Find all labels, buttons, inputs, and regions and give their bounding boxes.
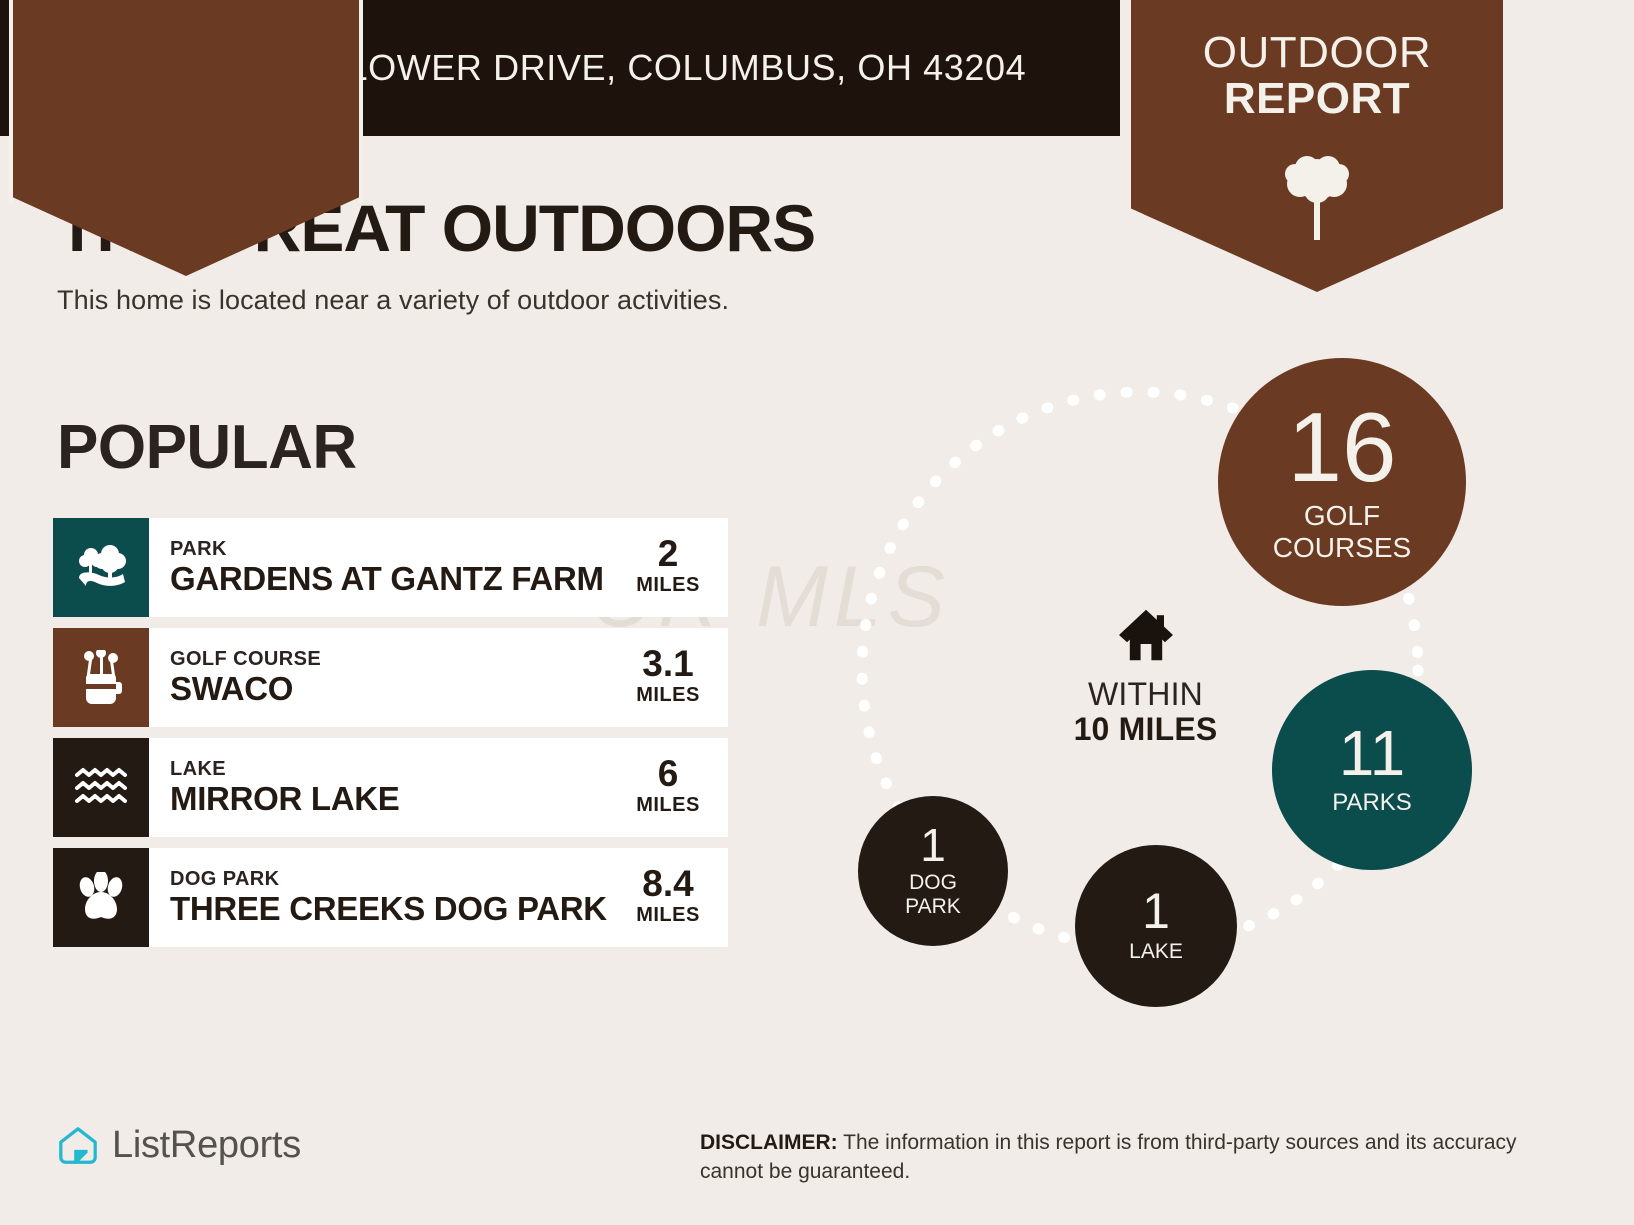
table-row[interactable]: LAKE MIRROR LAKE 6 MILES: [53, 738, 728, 837]
poi-distance-unit: MILES: [622, 572, 714, 598]
poi-name: MIRROR LAKE: [170, 781, 622, 818]
water-waves-icon: [73, 766, 129, 810]
listreports-wordmark: ListReports: [112, 1124, 301, 1167]
table-row[interactable]: PARK GARDENS AT GANTZ FARM 2 MILES: [53, 518, 728, 617]
stat-label: LAKE: [1129, 940, 1183, 964]
poi-textcol: GOLF COURSE SWACO: [170, 648, 622, 708]
poi-distance-value: 8.4: [622, 865, 714, 902]
stat-node-lake[interactable]: 1 LAKE: [1075, 845, 1237, 1007]
stat-label-line1: GOLF: [1273, 500, 1411, 531]
diagram-center: WITHIN 10 MILES: [1028, 608, 1263, 746]
table-row[interactable]: GOLF COURSE SWACO 3.1 MILES: [53, 628, 728, 727]
stat-node-parks[interactable]: 11 PARKS: [1272, 670, 1472, 870]
stat-node-dog-park[interactable]: 1 DOG PARK: [858, 796, 1008, 946]
stat-label-line2: COURSES: [1273, 532, 1411, 563]
poi-body: LAKE MIRROR LAKE 6 MILES: [149, 738, 728, 837]
poi-category: PARK: [170, 538, 622, 561]
poi-body: GOLF COURSE SWACO 3.1 MILES: [149, 628, 728, 727]
stat-count: 16: [1287, 401, 1396, 494]
poi-category: GOLF COURSE: [170, 648, 622, 671]
poi-name: GARDENS AT GANTZ FARM: [170, 561, 622, 598]
poi-distance-value: 2: [622, 535, 714, 572]
poi-body: DOG PARK THREE CREEKS DOG PARK 8.4 MILES: [149, 848, 728, 947]
stat-node-golf-courses[interactable]: 16 GOLF COURSES: [1218, 358, 1466, 606]
poi-textcol: PARK GARDENS AT GANTZ FARM: [170, 538, 622, 598]
poi-icon-tile: [53, 518, 149, 617]
badge-text-group: OUTDOOR REPORT: [1131, 30, 1503, 122]
tree-icon: [1275, 150, 1359, 242]
badge-title-line2: REPORT: [1131, 76, 1503, 122]
poi-textcol: DOG PARK THREE CREEKS DOG PARK: [170, 868, 622, 928]
stat-label-line2: PARK: [905, 895, 961, 919]
poi-distance-value: 3.1: [622, 645, 714, 682]
stat-count: 1: [920, 824, 946, 868]
listreports-logo[interactable]: ListReports: [57, 1124, 301, 1167]
poi-name: SWACO: [170, 671, 622, 708]
stat-label: DOG PARK: [905, 871, 961, 918]
disclaimer: DISCLAIMER: The information in this repo…: [700, 1128, 1520, 1187]
amenities-diagram: 16 GOLF COURSES 11 PARKS 1 DOG PARK 1 LA…: [820, 350, 1520, 1050]
listreports-house-icon: [57, 1125, 99, 1167]
page-subtitle: This home is located near a variety of o…: [57, 285, 729, 316]
stat-label-line1: DOG: [905, 871, 961, 895]
poi-icon-tile: [53, 738, 149, 837]
poi-distance: 2 MILES: [622, 535, 714, 600]
center-line2: 10 MILES: [1028, 712, 1263, 747]
poi-category: LAKE: [170, 758, 622, 781]
poi-distance-value: 6: [622, 755, 714, 792]
paw-print-icon: [76, 872, 126, 924]
poi-distance: 3.1 MILES: [622, 645, 714, 710]
poi-name: THREE CREEKS DOG PARK: [170, 891, 622, 928]
poi-textcol: LAKE MIRROR LAKE: [170, 758, 622, 818]
center-line1: WITHIN: [1028, 677, 1263, 712]
poi-distance-unit: MILES: [622, 792, 714, 818]
disclaimer-label: DISCLAIMER:: [700, 1131, 838, 1154]
park-trees-icon: [73, 542, 129, 594]
poi-category: DOG PARK: [170, 868, 622, 891]
poi-distance-unit: MILES: [622, 682, 714, 708]
table-row[interactable]: DOG PARK THREE CREEKS DOG PARK 8.4 MILES: [53, 848, 728, 947]
stat-label: PARKS: [1332, 790, 1412, 817]
stat-label: GOLF COURSES: [1273, 500, 1411, 563]
golf-bag-icon: [78, 650, 124, 706]
poi-body: PARK GARDENS AT GANTZ FARM 2 MILES: [149, 518, 728, 617]
poi-distance: 8.4 MILES: [622, 865, 714, 930]
poi-icon-tile: [53, 628, 149, 727]
section-title-popular: POPULAR: [57, 412, 357, 483]
poi-distance: 6 MILES: [622, 755, 714, 820]
popular-poi-list: PARK GARDENS AT GANTZ FARM 2 MILES: [53, 518, 728, 958]
stat-count: 1: [1142, 888, 1170, 936]
poi-distance-unit: MILES: [622, 902, 714, 928]
poi-icon-tile: [53, 848, 149, 947]
badge-title-line1: OUTDOOR: [1131, 30, 1503, 76]
home-icon: [1116, 608, 1176, 662]
stat-count: 11: [1339, 723, 1405, 784]
